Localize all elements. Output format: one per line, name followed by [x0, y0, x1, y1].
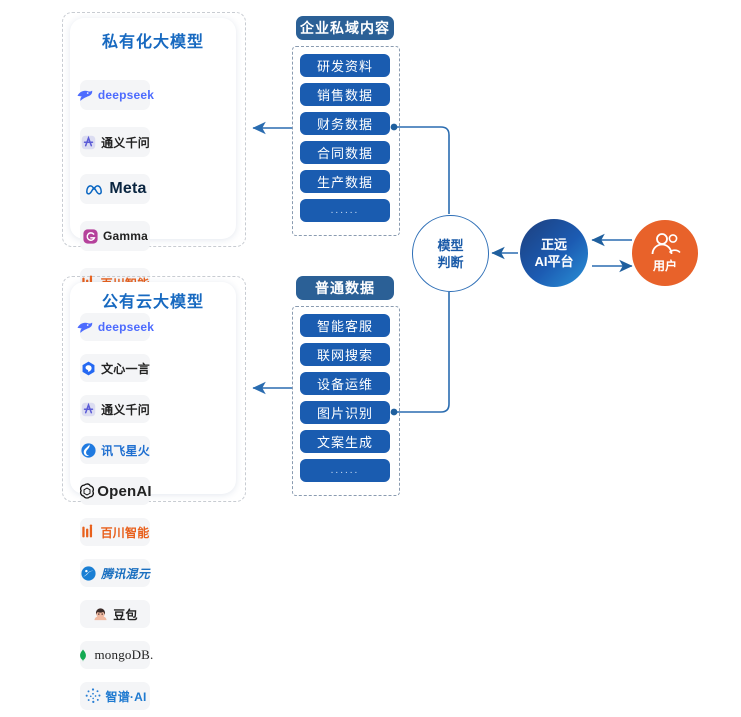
meta-infinity-icon	[83, 180, 105, 198]
public-models-logo-grid: deepseek文心一言通义千问讯飞星火OpenAI百川智能腾讯混元豆包mong…	[80, 313, 228, 717]
logo-label: 智谱·AI	[106, 688, 147, 705]
logo-label: 文心一言	[101, 360, 150, 377]
data-chip[interactable]: 图片识别	[300, 401, 390, 424]
openai-knot-icon	[78, 482, 96, 500]
mongodb-leaf-icon	[76, 646, 90, 665]
data-chip[interactable]: ......	[300, 459, 390, 482]
logo-label: 豆包	[113, 606, 137, 623]
data-chip[interactable]: 文案生成	[300, 430, 390, 453]
data-chip[interactable]: 销售数据	[300, 83, 390, 106]
private-content-header: 企业私域内容	[296, 16, 394, 40]
logo-label: deepseek	[98, 320, 154, 334]
data-chip[interactable]: 生产数据	[300, 170, 390, 193]
logo-label: OpenAI	[97, 483, 152, 500]
data-chip[interactable]: 合同数据	[300, 141, 390, 164]
logo-label: 通义千问	[101, 134, 150, 151]
logo-tile-baichuan[interactable]: 百川智能	[80, 518, 150, 546]
logo-tile-deepseek[interactable]: deepseek	[80, 313, 150, 341]
baichuan-icon	[81, 523, 97, 541]
logo-tile-tongyi-qianwen[interactable]: 通义千问	[80, 395, 150, 423]
logo-label: Gamma	[103, 229, 148, 243]
hunyuan-icon	[80, 565, 97, 582]
logo-tile-doubao[interactable]: 豆包	[80, 600, 150, 628]
user-node[interactable]: 用户	[632, 220, 698, 286]
public-models-title: 公有云大模型	[70, 288, 236, 312]
zhipu-icon	[84, 687, 102, 705]
users-group-icon	[648, 232, 682, 256]
tongyi-icon	[80, 134, 97, 151]
ai-platform-node[interactable]: 正远 AI平台	[520, 219, 588, 287]
ai-platform-line1: 正远	[541, 237, 567, 252]
logo-tile-tencent-hunyuan[interactable]: 腾讯混元	[80, 559, 150, 587]
logo-tile-wenxin-yiyan[interactable]: 文心一言	[80, 354, 150, 382]
data-chip[interactable]: 智能客服	[300, 314, 390, 337]
private-models-title: 私有化大模型	[70, 28, 236, 52]
model-judge-node[interactable]: 模型 判断	[412, 215, 489, 292]
gamma-icon	[82, 228, 99, 245]
tongyi-icon	[80, 401, 97, 418]
logo-tile-xunfei-xinghuo[interactable]: 讯飞星火	[80, 436, 150, 464]
logo-tile-zhipu-ai[interactable]: 智谱·AI	[80, 682, 150, 710]
logo-label: 百川智能	[101, 524, 150, 541]
doubao-avatar-icon	[92, 606, 109, 623]
data-chip[interactable]: 联网搜索	[300, 343, 390, 366]
wenxin-icon	[80, 360, 97, 377]
logo-tile-meta[interactable]: Meta	[80, 174, 150, 204]
data-chip[interactable]: 财务数据	[300, 112, 390, 135]
deepseek-whale-icon	[76, 86, 94, 104]
logo-tile-mongodb[interactable]: mongoDB.	[80, 641, 150, 669]
logo-tile-openai[interactable]: OpenAI	[80, 477, 150, 505]
data-chip[interactable]: ......	[300, 199, 390, 222]
ai-platform-line2: AI平台	[534, 254, 573, 269]
logo-tile-gamma[interactable]: Gamma	[80, 221, 150, 251]
logo-label: 讯飞星火	[101, 442, 150, 459]
user-label: 用户	[653, 257, 677, 274]
model-judge-line2: 判断	[437, 255, 463, 270]
data-chip[interactable]: 设备运维	[300, 372, 390, 395]
diagram-canvas: 私有化大模型 deepseek通义千问MetaGamma百川智能智谱·AI 公有…	[0, 0, 741, 513]
normal-data-header: 普通数据	[296, 276, 394, 300]
logo-tile-tongyi-qianwen[interactable]: 通义千问	[80, 127, 150, 157]
logo-label: 通义千问	[101, 401, 150, 418]
logo-label: mongoDB.	[94, 647, 153, 663]
logo-tile-deepseek[interactable]: deepseek	[80, 80, 150, 110]
model-judge-line1: 模型	[437, 238, 463, 253]
logo-label: Meta	[109, 180, 146, 198]
xunfei-icon	[80, 442, 97, 459]
logo-label: 腾讯混元	[101, 565, 150, 582]
logo-label: deepseek	[98, 88, 154, 102]
data-chip[interactable]: 研发资料	[300, 54, 390, 77]
deepseek-whale-icon	[76, 318, 94, 336]
